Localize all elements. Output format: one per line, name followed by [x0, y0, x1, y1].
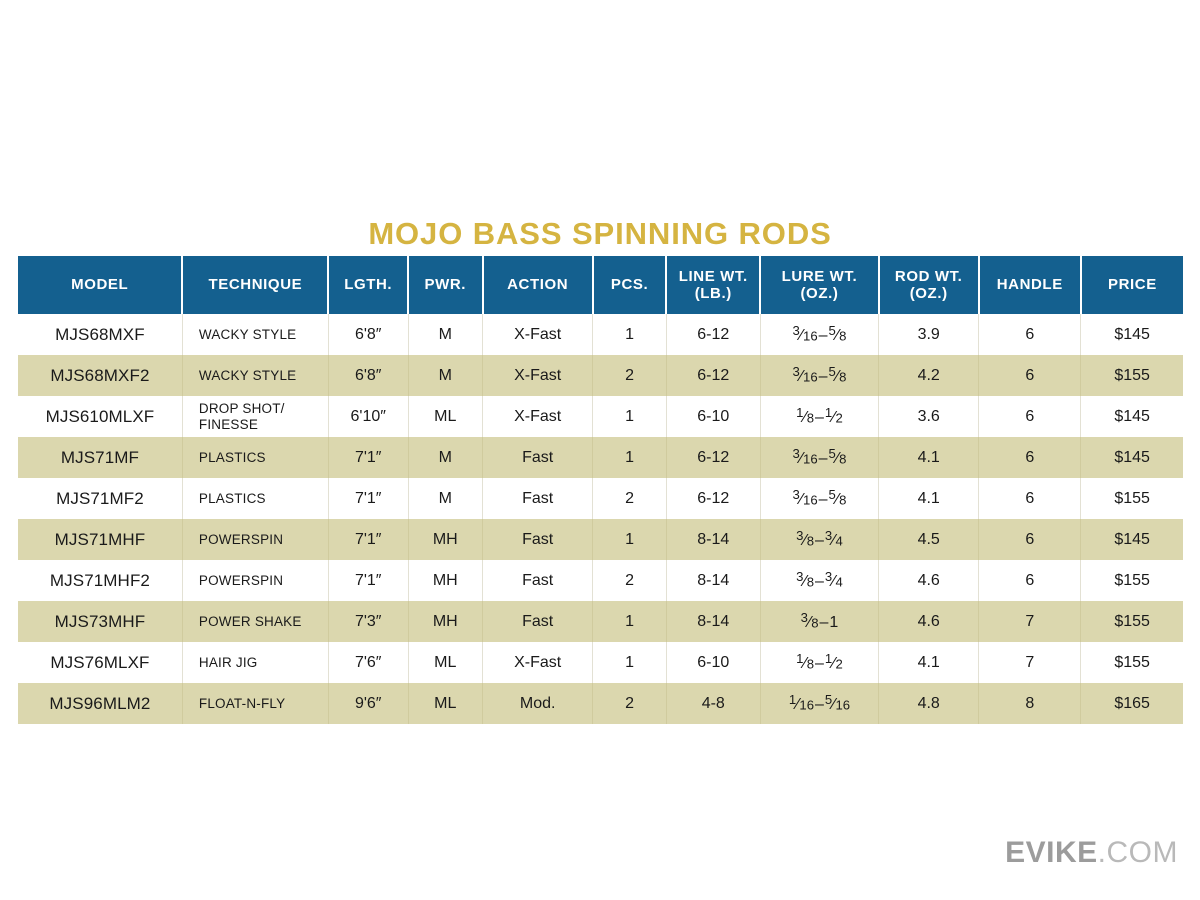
fraction-denominator: 16: [803, 329, 818, 344]
cell-rod-weight: 4.2: [879, 355, 979, 396]
cell-lure-weight: 1⁄8–1⁄2: [760, 396, 878, 437]
fraction-denominator: 16: [799, 698, 814, 713]
table-row: MJS71MF2PLASTICS7'1″MFast26-123⁄16–5⁄84.…: [18, 478, 1183, 519]
fraction-denominator: 4: [836, 575, 843, 590]
cell-model: MJS68MXF2: [18, 355, 182, 396]
cell-model: MJS73MHF: [18, 601, 182, 642]
fraction: 5⁄8: [829, 324, 847, 345]
range-dash: –: [814, 532, 825, 549]
column-header-technique: TECHNIQUE: [182, 256, 328, 314]
cell-handle: 6: [979, 478, 1081, 519]
cell-action: X-Fast: [483, 355, 593, 396]
cell-line-weight: 6-10: [666, 642, 760, 683]
technique-line-1: PLASTICS: [199, 450, 266, 465]
cell-line-weight: 4-8: [666, 683, 760, 724]
cell-rod-weight: 3.9: [879, 314, 979, 355]
cell-technique: WACKY STYLE: [182, 355, 328, 396]
range-dash: –: [818, 450, 829, 467]
cell-line-weight: 6-12: [666, 355, 760, 396]
fraction-denominator: 4: [836, 534, 843, 549]
table-row: MJS76MLXFHAIR JIG7'6″MLX-Fast16-101⁄8–1⁄…: [18, 642, 1183, 683]
fraction-denominator: 8: [807, 657, 814, 672]
column-header-label: PRICE: [1108, 276, 1157, 293]
cell-length: 7'3″: [328, 601, 408, 642]
cell-model: MJS76MLXF: [18, 642, 182, 683]
fraction-denominator: 16: [803, 452, 818, 467]
cell-action: Fast: [483, 519, 593, 560]
cell-price: $145: [1081, 519, 1183, 560]
cell-power: ML: [408, 683, 483, 724]
column-header-label: PCS.: [611, 276, 648, 293]
cell-handle: 6: [979, 355, 1081, 396]
cell-price: $145: [1081, 314, 1183, 355]
column-header-label: MODEL: [71, 276, 128, 293]
fraction-numerator: 3: [792, 323, 799, 338]
table-body: MJS68MXFWACKY STYLE6'8″MX-Fast16-123⁄16–…: [18, 314, 1183, 724]
cell-price: $145: [1081, 437, 1183, 478]
technique-line-1: FLOAT-N-FLY: [199, 696, 285, 711]
cell-line-weight: 8-14: [666, 519, 760, 560]
fraction: 3⁄8: [796, 570, 814, 591]
fraction-numerator: 3: [801, 610, 808, 625]
cell-length: 6'8″: [328, 355, 408, 396]
table-row: MJS73MHFPOWER SHAKE7'3″MHFast18-143⁄8–14…: [18, 601, 1183, 642]
cell-model: MJS610MLXF: [18, 396, 182, 437]
cell-lure-weight: 3⁄8–1: [760, 601, 878, 642]
column-header-unit: (LB.): [670, 285, 756, 302]
cell-handle: 6: [979, 519, 1081, 560]
range-dash: –: [814, 655, 825, 672]
cell-length: 7'1″: [328, 519, 408, 560]
technique-line-1: WACKY STYLE: [199, 368, 296, 383]
table-row: MJS610MLXFDROP SHOT/FINESSE6'10″MLX-Fast…: [18, 396, 1183, 437]
cell-lure-weight: 3⁄16–5⁄8: [760, 437, 878, 478]
column-header-label: HANDLE: [997, 276, 1063, 293]
cell-handle: 7: [979, 642, 1081, 683]
table-row: MJS96MLM2FLOAT-N-FLY9'6″MLMod.24-81⁄16–5…: [18, 683, 1183, 724]
fraction-denominator: 8: [839, 329, 846, 344]
fraction: 3⁄8: [796, 529, 814, 550]
cell-technique: PLASTICS: [182, 437, 328, 478]
lure-weight-range: 3⁄8–1: [801, 614, 839, 631]
range-dash: –: [818, 491, 829, 508]
fraction: 1⁄2: [825, 406, 843, 427]
fraction-numerator: 5: [829, 446, 836, 461]
cell-model: MJS71MHF: [18, 519, 182, 560]
evike-watermark: EVIKE.COM: [1005, 838, 1178, 868]
cell-lure-weight: 3⁄8–3⁄4: [760, 519, 878, 560]
cell-handle: 6: [979, 396, 1081, 437]
cell-line-weight: 8-14: [666, 601, 760, 642]
fraction-denominator: 8: [839, 493, 846, 508]
column-header-rod-wt: ROD WT.(OZ.): [879, 256, 979, 314]
column-header-label: TECHNIQUE: [209, 276, 303, 293]
lure-weight-range: 3⁄8–3⁄4: [796, 532, 843, 549]
fraction: 5⁄8: [829, 488, 847, 509]
fraction-numerator: 5: [829, 364, 836, 379]
cell-price: $155: [1081, 355, 1183, 396]
cell-action: Fast: [483, 560, 593, 601]
cell-action: X-Fast: [483, 642, 593, 683]
cell-price: $155: [1081, 478, 1183, 519]
whole-number: 1: [829, 614, 838, 631]
cell-lure-weight: 3⁄8–3⁄4: [760, 560, 878, 601]
cell-technique: POWERSPIN: [182, 560, 328, 601]
cell-lure-weight: 3⁄16–5⁄8: [760, 478, 878, 519]
technique-line-1: HAIR JIG: [199, 655, 258, 670]
fraction-numerator: 3: [792, 446, 799, 461]
cell-handle: 6: [979, 437, 1081, 478]
technique-line-1: POWER SHAKE: [199, 614, 302, 629]
cell-power: ML: [408, 396, 483, 437]
cell-model: MJS71MF: [18, 437, 182, 478]
cell-rod-weight: 4.1: [879, 642, 979, 683]
fraction: 5⁄8: [829, 365, 847, 386]
fraction-denominator: 16: [836, 698, 851, 713]
cell-pieces: 1: [593, 642, 667, 683]
fraction-denominator: 8: [807, 411, 814, 426]
cell-model: MJS71MHF2: [18, 560, 182, 601]
fraction-denominator: 8: [839, 452, 846, 467]
fraction: 1⁄8: [796, 652, 814, 673]
cell-rod-weight: 4.6: [879, 560, 979, 601]
fraction: 1⁄2: [825, 652, 843, 673]
fraction-denominator: 8: [807, 575, 814, 590]
column-header-lure-wt: LURE WT.(OZ.): [760, 256, 878, 314]
cell-power: ML: [408, 642, 483, 683]
cell-rod-weight: 4.5: [879, 519, 979, 560]
fraction: 3⁄4: [825, 570, 843, 591]
cell-handle: 6: [979, 314, 1081, 355]
cell-lure-weight: 1⁄16–5⁄16: [760, 683, 878, 724]
range-dash: –: [814, 696, 825, 713]
lure-weight-range: 3⁄16–5⁄8: [792, 491, 846, 508]
cell-rod-weight: 4.8: [879, 683, 979, 724]
fraction: 3⁄16: [792, 447, 817, 468]
cell-price: $155: [1081, 601, 1183, 642]
table-header-row: MODELTECHNIQUELGTH.PWR.ACTIONPCS.LINE WT…: [18, 256, 1183, 314]
cell-technique: WACKY STYLE: [182, 314, 328, 355]
lure-weight-range: 3⁄16–5⁄8: [792, 450, 846, 467]
spec-sheet-page: MOJO BASS SPINNING RODS MODELTECHNIQUELG…: [0, 0, 1200, 900]
table-row: MJS71MHFPOWERSPIN7'1″MHFast18-143⁄8–3⁄44…: [18, 519, 1183, 560]
cell-pieces: 1: [593, 437, 667, 478]
cell-length: 7'6″: [328, 642, 408, 683]
cell-pieces: 2: [593, 478, 667, 519]
fraction-denominator: 2: [836, 411, 843, 426]
technique-line-1: WACKY STYLE: [199, 327, 296, 342]
technique-line-1: DROP SHOT/: [199, 401, 285, 416]
cell-lure-weight: 3⁄16–5⁄8: [760, 355, 878, 396]
fraction: 5⁄8: [829, 447, 847, 468]
cell-power: MH: [408, 560, 483, 601]
fraction-denominator: 8: [807, 534, 814, 549]
fraction-denominator: 8: [839, 370, 846, 385]
range-dash: –: [814, 409, 825, 426]
cell-length: 9'6″: [328, 683, 408, 724]
cell-rod-weight: 4.1: [879, 478, 979, 519]
fraction: 1⁄8: [796, 406, 814, 427]
cell-action: X-Fast: [483, 396, 593, 437]
technique-line-2: FINESSE: [199, 417, 324, 432]
column-header-handle: HANDLE: [979, 256, 1081, 314]
fraction: 1⁄16: [789, 693, 814, 714]
range-dash: –: [814, 573, 825, 590]
cell-action: Mod.: [483, 683, 593, 724]
cell-length: 6'10″: [328, 396, 408, 437]
cell-length: 7'1″: [328, 560, 408, 601]
cell-pieces: 2: [593, 683, 667, 724]
table-row: MJS68MXF2WACKY STYLE6'8″MX-Fast26-123⁄16…: [18, 355, 1183, 396]
cell-power: M: [408, 355, 483, 396]
cell-length: 6'8″: [328, 314, 408, 355]
cell-line-weight: 8-14: [666, 560, 760, 601]
column-header-label: ROD WT.: [895, 268, 963, 285]
cell-action: Fast: [483, 478, 593, 519]
cell-pieces: 1: [593, 519, 667, 560]
cell-handle: 6: [979, 560, 1081, 601]
cell-technique: POWERSPIN: [182, 519, 328, 560]
table-row: MJS68MXFWACKY STYLE6'8″MX-Fast16-123⁄16–…: [18, 314, 1183, 355]
cell-length: 7'1″: [328, 478, 408, 519]
cell-rod-weight: 4.1: [879, 437, 979, 478]
cell-line-weight: 6-12: [666, 478, 760, 519]
cell-line-weight: 6-10: [666, 396, 760, 437]
column-header-action: ACTION: [483, 256, 593, 314]
cell-model: MJS68MXF: [18, 314, 182, 355]
technique-line-1: POWERSPIN: [199, 532, 283, 547]
table-row: MJS71MFPLASTICS7'1″MFast16-123⁄16–5⁄84.1…: [18, 437, 1183, 478]
column-header-unit: (OZ.): [764, 285, 874, 302]
fraction-numerator: 5: [829, 323, 836, 338]
column-header-label: LGTH.: [344, 276, 392, 293]
cell-power: MH: [408, 601, 483, 642]
cell-handle: 8: [979, 683, 1081, 724]
lure-weight-range: 3⁄8–3⁄4: [796, 573, 843, 590]
column-header-line-wt: LINE WT.(LB.): [666, 256, 760, 314]
cell-pieces: 1: [593, 601, 667, 642]
cell-technique: HAIR JIG: [182, 642, 328, 683]
fraction: 5⁄16: [825, 693, 850, 714]
cell-pieces: 1: [593, 396, 667, 437]
cell-model: MJS96MLM2: [18, 683, 182, 724]
cell-action: X-Fast: [483, 314, 593, 355]
cell-power: M: [408, 437, 483, 478]
column-header-lgth: LGTH.: [328, 256, 408, 314]
fraction-numerator: 5: [829, 487, 836, 502]
fraction-denominator: 16: [803, 370, 818, 385]
fraction: 3⁄16: [792, 324, 817, 345]
cell-length: 7'1″: [328, 437, 408, 478]
fraction-denominator: 16: [803, 493, 818, 508]
fraction: 3⁄16: [792, 365, 817, 386]
range-dash: –: [818, 368, 829, 385]
column-header-pcs: PCS.: [593, 256, 667, 314]
cell-price: $145: [1081, 396, 1183, 437]
cell-action: Fast: [483, 601, 593, 642]
range-dash: –: [818, 614, 829, 631]
cell-handle: 7: [979, 601, 1081, 642]
range-dash: –: [818, 327, 829, 344]
column-header-price: PRICE: [1081, 256, 1183, 314]
cell-pieces: 2: [593, 355, 667, 396]
cell-technique: FLOAT-N-FLY: [182, 683, 328, 724]
column-header-label: ACTION: [507, 276, 568, 293]
rod-specification-table: MODELTECHNIQUELGTH.PWR.ACTIONPCS.LINE WT…: [18, 256, 1183, 724]
cell-rod-weight: 3.6: [879, 396, 979, 437]
cell-action: Fast: [483, 437, 593, 478]
cell-line-weight: 6-12: [666, 314, 760, 355]
cell-power: M: [408, 314, 483, 355]
lure-weight-range: 3⁄16–5⁄8: [792, 368, 846, 385]
cell-pieces: 2: [593, 560, 667, 601]
cell-line-weight: 6-12: [666, 437, 760, 478]
fraction-numerator: 3: [792, 364, 799, 379]
lure-weight-range: 1⁄8–1⁄2: [796, 409, 843, 426]
cell-rod-weight: 4.6: [879, 601, 979, 642]
cell-price: $155: [1081, 560, 1183, 601]
watermark-tld: .COM: [1098, 836, 1178, 869]
fraction: 3⁄16: [792, 488, 817, 509]
lure-weight-range: 1⁄16–5⁄16: [789, 696, 850, 713]
column-header-label: LURE WT.: [782, 268, 858, 285]
column-header-label: PWR.: [424, 276, 466, 293]
cell-technique: DROP SHOT/FINESSE: [182, 396, 328, 437]
technique-line-1: POWERSPIN: [199, 573, 283, 588]
lure-weight-range: 1⁄8–1⁄2: [796, 655, 843, 672]
cell-technique: PLASTICS: [182, 478, 328, 519]
column-header-unit: (OZ.): [883, 285, 975, 302]
fraction: 3⁄8: [801, 611, 819, 632]
fraction-denominator: 2: [836, 657, 843, 672]
technique-line-1: PLASTICS: [199, 491, 266, 506]
cell-pieces: 1: [593, 314, 667, 355]
column-header-pwr: PWR.: [408, 256, 483, 314]
fraction: 3⁄4: [825, 529, 843, 550]
column-header-label: LINE WT.: [679, 268, 748, 285]
table-header: MODELTECHNIQUELGTH.PWR.ACTIONPCS.LINE WT…: [18, 256, 1183, 314]
cell-model: MJS71MF2: [18, 478, 182, 519]
fraction-numerator: 1: [789, 692, 796, 707]
fraction-numerator: 3: [792, 487, 799, 502]
cell-power: M: [408, 478, 483, 519]
cell-price: $155: [1081, 642, 1183, 683]
lure-weight-range: 3⁄16–5⁄8: [792, 327, 846, 344]
column-header-model: MODEL: [18, 256, 182, 314]
cell-technique: POWER SHAKE: [182, 601, 328, 642]
cell-lure-weight: 1⁄8–1⁄2: [760, 642, 878, 683]
watermark-brand: EVIKE: [1005, 836, 1098, 869]
cell-lure-weight: 3⁄16–5⁄8: [760, 314, 878, 355]
page-title: MOJO BASS SPINNING RODS: [0, 218, 1200, 249]
spec-table-container: MODELTECHNIQUELGTH.PWR.ACTIONPCS.LINE WT…: [18, 256, 1183, 724]
table-row: MJS71MHF2POWERSPIN7'1″MHFast28-143⁄8–3⁄4…: [18, 560, 1183, 601]
cell-power: MH: [408, 519, 483, 560]
cell-price: $165: [1081, 683, 1183, 724]
